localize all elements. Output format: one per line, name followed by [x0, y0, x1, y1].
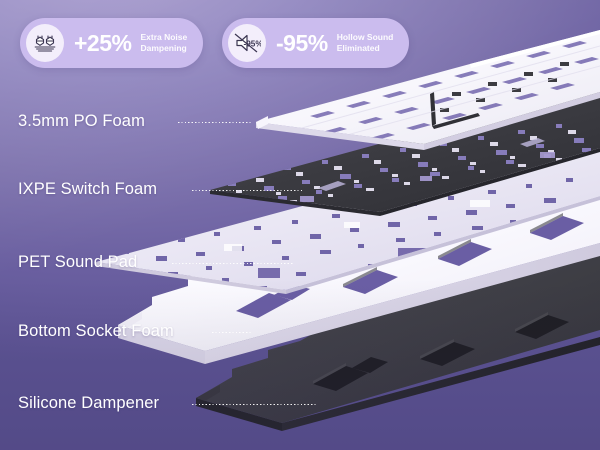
product-exploded-view: 3.5mm PO Foam IXPE Switch Foam PET Sound…	[0, 0, 600, 450]
layer-label-bottom-socket-foam: Bottom Socket Foam	[18, 322, 174, 341]
muted-speaker-95-icon: -95%	[228, 24, 266, 62]
dual-switch-dampening-icon	[26, 24, 64, 62]
badge-percent-value: -95%	[276, 32, 328, 55]
leader-line-silicone-dampener	[192, 404, 318, 405]
badge-hollow-sound-eliminated[interactable]: -95% -95% Hollow Sound Eliminated	[222, 18, 409, 68]
leader-line-pet-sound-pad	[172, 263, 294, 264]
badge-caption: Hollow Sound Eliminated	[337, 32, 394, 54]
badge-extra-noise-dampening[interactable]: +25% Extra Noise Dampening	[20, 18, 203, 68]
layer-label-pet-sound-pad: PET Sound Pad	[18, 253, 137, 272]
svg-text:-95%: -95%	[244, 40, 262, 49]
leader-line-po-foam	[178, 122, 252, 123]
layer-label-po-foam: 3.5mm PO Foam	[18, 112, 145, 131]
layer-label-ixpe-switch-foam: IXPE Switch Foam	[18, 180, 157, 199]
layer-label-silicone-dampener: Silicone Dampener	[18, 394, 159, 413]
leader-line-ixpe-switch-foam	[192, 190, 304, 191]
badge-percent-value: +25%	[74, 32, 131, 55]
leader-line-bottom-socket-foam	[212, 332, 252, 333]
badge-caption: Extra Noise Dampening	[140, 32, 187, 54]
